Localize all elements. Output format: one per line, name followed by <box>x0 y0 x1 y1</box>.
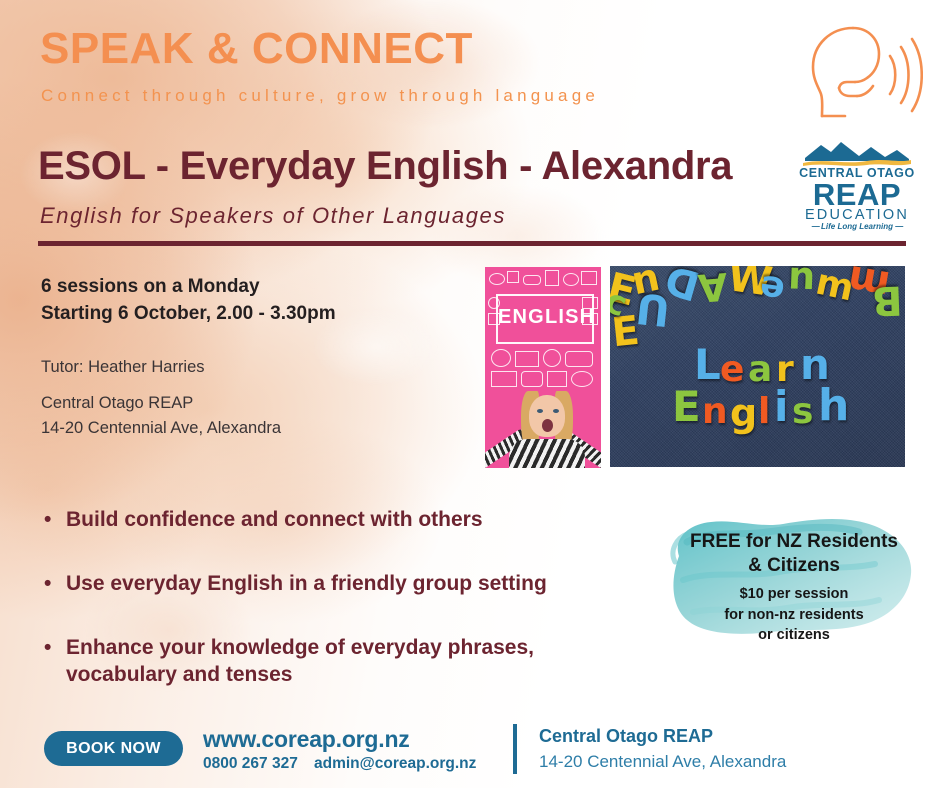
price-headline: FREE for NZ Residents & Citizens <box>663 530 925 579</box>
photo-person-eye-left <box>537 409 543 413</box>
course-subtitle: English for Speakers of Other Languages <box>40 203 506 229</box>
benefit-item: • Build confidence and connect with othe… <box>44 507 483 534</box>
website-link[interactable]: www.coreap.org.nz <box>203 726 410 753</box>
footer-org-address: 14-20 Centennial Ave, Alexandra <box>539 752 786 772</box>
brand-title: SPEAK & CONNECT <box>40 27 473 71</box>
reap-logo: CENTRAL OTAGO REAP EDUCATION — Life Long… <box>798 138 916 234</box>
flyer-canvas: SPEAK & CONNECT Connect through culture,… <box>0 0 940 788</box>
logo-tagline-text: Life Long Learning <box>821 222 893 231</box>
bullet-icon: • <box>44 507 64 534</box>
benefit-item: • Enhance your knowledge of everyday phr… <box>44 635 644 689</box>
benefit-text: Build confidence and connect with others <box>66 507 483 534</box>
logo-sub-line: EDUCATION <box>798 208 916 223</box>
bullet-icon: • <box>44 635 64 662</box>
price-headline-line2: & Citizens <box>748 555 840 576</box>
tutor-name: Tutor: Heather Harries <box>41 358 205 377</box>
sessions-schedule: Starting 6 October, 2.00 - 3.30pm <box>41 303 336 325</box>
benefit-text: Enhance your knowledge of everyday phras… <box>66 635 644 689</box>
photo-person-eye-right <box>553 409 559 413</box>
email-link[interactable]: admin@coreap.org.nz <box>314 755 476 773</box>
price-detail-line1: $10 per session <box>740 586 849 602</box>
venue-name: Central Otago REAP <box>41 394 193 413</box>
book-now-button[interactable]: BOOK NOW <box>44 731 183 766</box>
venue-address: 14-20 Centennial Ave, Alexandra <box>41 419 281 438</box>
english-word-box: ENGLISH <box>496 294 594 344</box>
footer-divider <box>513 724 517 774</box>
price-detail: $10 per session for non-nz residents or … <box>663 584 925 646</box>
logo-main-line: REAP <box>798 179 916 210</box>
photo-english: ENGLISH <box>485 267 601 468</box>
photo-person-mouth <box>542 419 553 432</box>
photo-person-body <box>509 439 585 468</box>
footer-org-name: Central Otago REAP <box>539 726 713 747</box>
photo-learn-english: E n U D A W e u m m B E c L e a r n E n … <box>610 266 905 467</box>
price-detail-line3: or citizens <box>758 627 830 643</box>
horizontal-divider <box>38 241 906 246</box>
logo-tagline: — Life Long Learning — <box>798 223 916 231</box>
benefit-text: Use everyday English in a friendly group… <box>66 571 547 598</box>
course-title: ESOL - Everyday English - Alexandra <box>38 146 732 186</box>
brand-tagline: Connect through culture, grow through la… <box>41 86 599 106</box>
phone-link[interactable]: 0800 267 327 <box>203 755 298 773</box>
speaking-head-icon <box>795 22 923 132</box>
sessions-count: 6 sessions on a Monday <box>41 276 260 298</box>
benefit-item: • Use everyday English in a friendly gro… <box>44 571 547 598</box>
mountains-icon <box>801 138 913 166</box>
price-headline-line1: FREE for NZ Residents <box>690 531 898 552</box>
price-detail-line2: for non-nz residents <box>724 607 863 623</box>
bullet-icon: • <box>44 571 64 598</box>
english-word: ENGLISH <box>498 306 592 329</box>
